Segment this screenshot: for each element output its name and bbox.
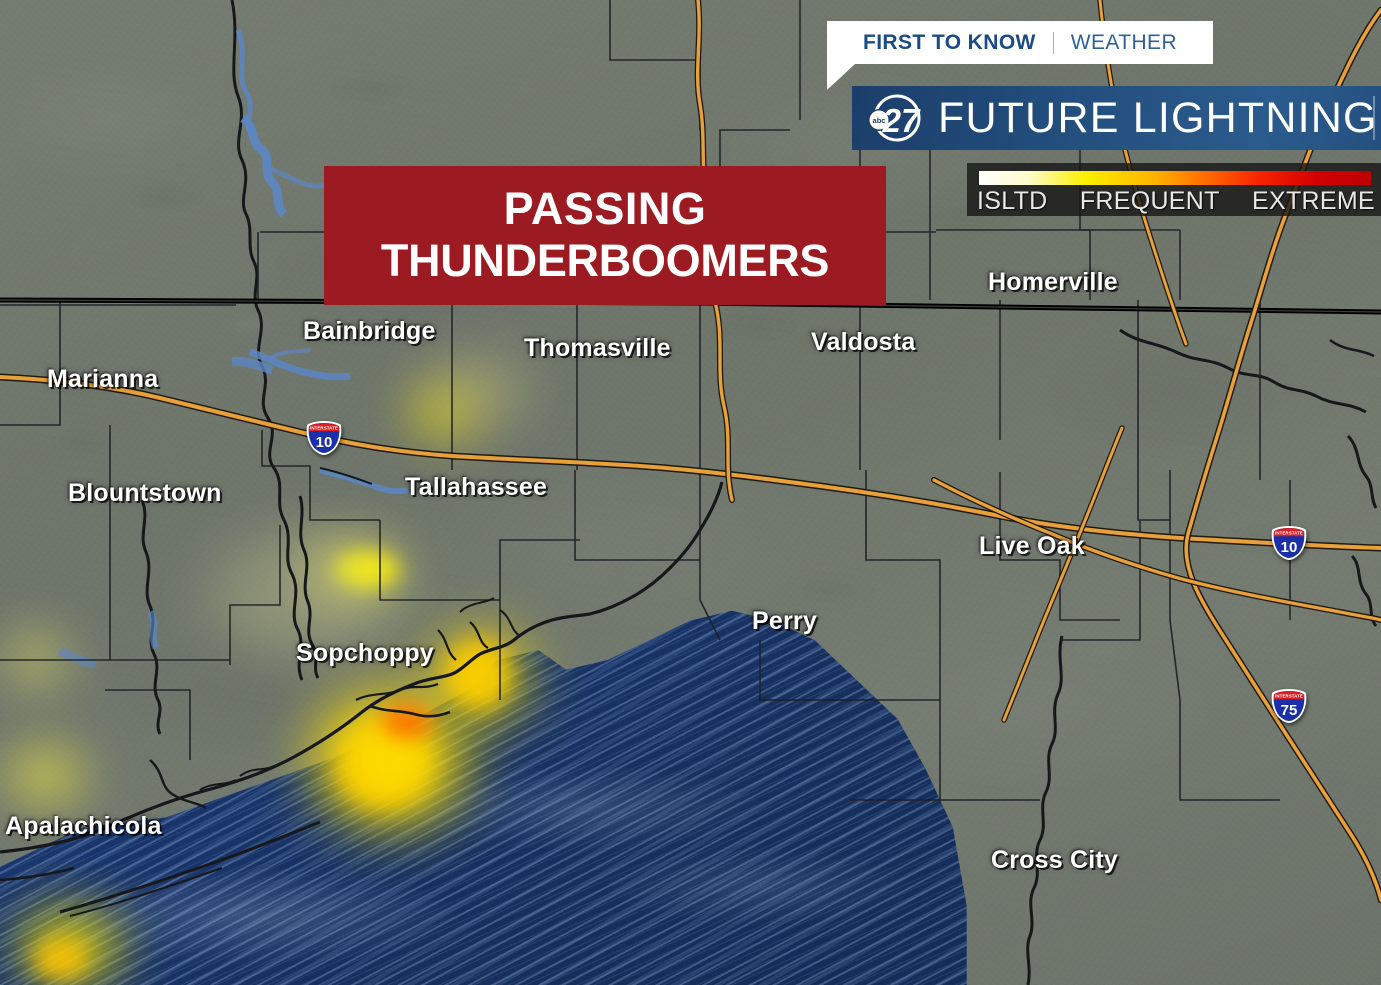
city-label-marianna: Marianna [47, 365, 158, 394]
first-to-know-tab: FIRST TO KNOW WEATHER [827, 21, 1213, 64]
abc27-logo-icon: abc 27 [864, 92, 926, 144]
state-border-layer [0, 300, 1381, 916]
headline-banner: PASSING THUNDERBOOMERS [324, 166, 886, 305]
city-label-thomasville: Thomasville [524, 334, 671, 363]
legend-label-high: EXTREME [1252, 187, 1375, 216]
city-label-bainbridge: Bainbridge [303, 317, 436, 346]
weather-label: WEATHER [1071, 31, 1177, 55]
svg-text:INTERSTATE: INTERSTATE [1275, 531, 1303, 536]
bar-right-rule [1373, 96, 1375, 140]
first-to-know-label: FIRST TO KNOW [863, 31, 1036, 55]
svg-text:10: 10 [316, 434, 333, 451]
interstate-75-shield-icon: INTERSTATE75 [1270, 688, 1308, 724]
svg-text:INTERSTATE: INTERSTATE [1275, 694, 1303, 699]
lightning-legend: ISLTD FREQUENT EXTREME [967, 163, 1381, 216]
legend-labels: ISLTD FREQUENT EXTREME [977, 187, 1375, 216]
city-label-valdosta: Valdosta [811, 328, 915, 357]
city-label-perry: Perry [752, 607, 817, 636]
legend-label-mid: FREQUENT [1080, 187, 1220, 216]
svg-text:75: 75 [1281, 702, 1298, 719]
city-label-blountstown: Blountstown [68, 479, 222, 508]
city-label-apalachicola: Apalachicola [5, 812, 162, 841]
weather-map-graphic: MariannaBainbridgeThomasvilleValdostaHom… [0, 0, 1381, 985]
city-label-homerville: Homerville [988, 268, 1118, 297]
interstate-10-shield-icon: INTERSTATE10 [1270, 525, 1308, 561]
headline-line-1: PASSING [504, 186, 707, 231]
city-label-live-oak: Live Oak [979, 532, 1085, 561]
channel-number: 27 [882, 102, 921, 139]
city-label-tallahassee: Tallahassee [405, 473, 547, 502]
future-lightning-bar: abc 27 FUTURE LIGHTNING [852, 86, 1381, 150]
city-label-sopchoppy: Sopchoppy [296, 639, 434, 668]
tab-divider [1053, 32, 1054, 54]
svg-text:10: 10 [1281, 539, 1298, 556]
city-label-cross-city: Cross City [991, 846, 1118, 875]
interstate-10-shield-icon: INTERSTATE10 [305, 420, 343, 456]
legend-gradient-bar [979, 171, 1371, 185]
svg-text:INTERSTATE: INTERSTATE [310, 426, 338, 431]
headline-line-2: THUNDERBOOMERS [381, 237, 829, 284]
legend-label-low: ISLTD [977, 187, 1048, 216]
future-lightning-title: FUTURE LIGHTNING [938, 94, 1378, 143]
